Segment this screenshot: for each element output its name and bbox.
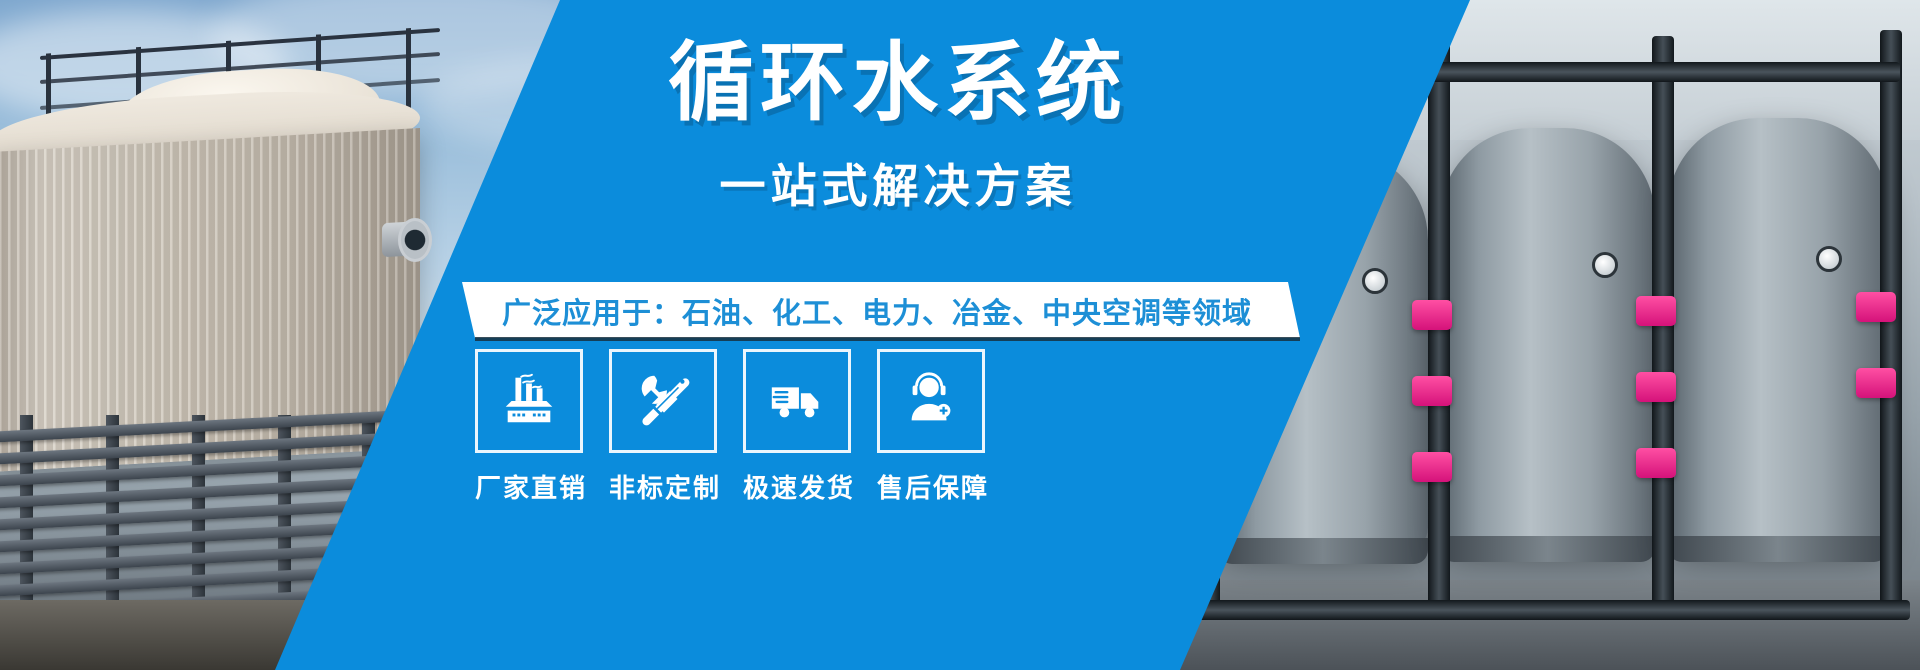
feature-icons-row: [470, 342, 990, 460]
feature-label-custom: 非标定制: [609, 468, 717, 505]
page-subtitle: 一站式解决方案: [618, 150, 1178, 216]
feature-labels-row: 厂家直销 非标定制 极速发货 售后保障: [470, 468, 990, 505]
truck-icon: [766, 368, 828, 434]
feature-item-support[interactable]: [877, 349, 985, 453]
feature-label-shipping: 极速发货: [743, 468, 851, 505]
feature-item-custom[interactable]: [609, 349, 717, 453]
feature-item-factory[interactable]: [475, 349, 583, 453]
page-title: 循环水系统: [618, 38, 1178, 129]
feature-label-factory: 厂家直销: [475, 468, 583, 505]
factory-icon: [498, 368, 560, 434]
feature-item-shipping[interactable]: [743, 349, 851, 453]
promo-banner: 循环水系统 一站式解决方案 广泛应用于：石油、化工、电力、冶金、中央空调等领域: [0, 0, 1920, 670]
tools-icon: [632, 368, 694, 434]
feature-label-support: 售后保障: [877, 468, 985, 505]
application-fields-text: 广泛应用于：石油、化工、电力、冶金、中央空调等领域: [462, 287, 1292, 335]
support-icon: [900, 368, 962, 434]
